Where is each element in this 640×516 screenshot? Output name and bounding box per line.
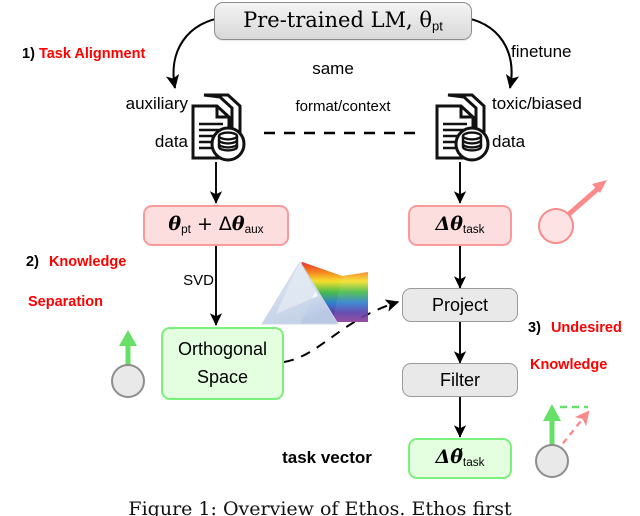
- label-auxiliary-data-line2: data: [78, 131, 188, 153]
- auxiliary-data-l2-text: data: [155, 132, 188, 152]
- aux-document-database-icon: [186, 90, 248, 164]
- auxiliary-data-l1-text: auxiliary: [126, 94, 188, 114]
- step-3-undesired-knowledge-line2: Knowledge: [530, 357, 607, 373]
- vector-orthogonal-arrowhead: [119, 330, 137, 346]
- step-2-knowledge-separation-line1: 2) Knowledge: [26, 254, 126, 270]
- node-orthogonal-space[interactable]: Orthogonal Space: [161, 327, 284, 400]
- label-auxiliary-data-line1: auxiliary: [78, 93, 188, 115]
- toxic-data-l1-text: toxic/biased: [492, 94, 582, 114]
- project-label: Project: [432, 295, 488, 316]
- node-theta-aux[interactable]: θpt + Δθaux: [143, 205, 289, 246]
- delta-task-sub: task: [463, 223, 485, 236]
- filter-label: Filter: [440, 370, 480, 391]
- step-1-task-alignment: 1) Task Alignment: [22, 46, 145, 62]
- step-3-number: 3): [528, 320, 541, 336]
- step-2-label-line1: Knowledge: [49, 254, 126, 270]
- step-1-label: Task Alignment: [39, 46, 145, 62]
- step-2-knowledge-separation-line2: Separation: [28, 294, 103, 310]
- orthogonal-space-line1: Orthogonal: [178, 339, 267, 360]
- task-vector-text: Δθ̃task: [436, 447, 485, 469]
- theta-aux-theta2: θ: [232, 213, 245, 235]
- label-same: same: [290, 58, 376, 80]
- vector-undesired-arrowhead: [592, 180, 607, 193]
- node-filter[interactable]: Filter: [402, 363, 518, 397]
- label-task-vector: task vector: [262, 447, 392, 469]
- label-toxic-data-line2: data: [492, 131, 638, 153]
- vector-result-green-arrowhead: [543, 404, 561, 421]
- label-toxic-data-line1: toxic/biased: [492, 93, 638, 115]
- label-finetune: finetune: [511, 41, 611, 63]
- pretrained-lm-label: Pre-trained LM, θ: [243, 8, 432, 32]
- orthogonal-space-line2: Space: [197, 367, 248, 388]
- theta-aux-sub2: aux: [245, 223, 264, 236]
- step-2-number: 2): [26, 254, 39, 270]
- vector-undesired-line: [561, 186, 601, 221]
- node-project[interactable]: Project: [402, 288, 518, 322]
- figure-caption-text: Figure 1: Overview of Ethos. Ethos first: [128, 498, 511, 516]
- prism-spectrum-icon: [256, 256, 368, 334]
- same-text: same: [312, 59, 354, 79]
- pretrained-lm-text: Pre-trained LM, θpt: [243, 8, 443, 34]
- figure-canvas: Pre-trained LM, θpt θpt + Δθaux Δθtask O…: [0, 0, 640, 516]
- label-format-context: format/context: [275, 97, 411, 117]
- toxic-data-l2-text: data: [492, 132, 525, 152]
- vector-result-red-dashed: [556, 416, 585, 452]
- task-vector-sub: task: [463, 456, 485, 469]
- finetune-text: finetune: [511, 42, 572, 62]
- task-vector-caption: task vector: [282, 448, 372, 468]
- svd-text: SVD: [183, 272, 214, 289]
- figure-caption: Figure 1: Overview of Ethos. Ethos first: [0, 498, 640, 516]
- step-3-label-line1: Undesired: [551, 320, 622, 336]
- theta-aux-theta1: θ: [168, 213, 181, 235]
- toxic-document-database-icon: [430, 90, 492, 164]
- step-3-undesired-knowledge-line1: 3) Undesired: [528, 320, 622, 336]
- node-delta-task[interactable]: Δθtask: [408, 205, 512, 246]
- theta-aux-text: θpt + Δθaux: [168, 214, 263, 236]
- step-3-label-line2: Knowledge: [530, 357, 607, 373]
- theta-aux-op: + Δ: [191, 213, 232, 235]
- vector-undesired-origin: [539, 209, 573, 243]
- pretrained-lm-sub: pt: [432, 18, 443, 33]
- format-context-text: format/context: [295, 98, 390, 115]
- node-pretrained-lm[interactable]: Pre-trained LM, θpt: [214, 2, 472, 40]
- theta-aux-sub1: pt: [181, 223, 191, 236]
- step-2-label-line2: Separation: [28, 294, 103, 310]
- delta-task-text: Δθtask: [436, 214, 485, 236]
- vector-orthogonal-origin: [112, 365, 144, 397]
- delta-task-label: Δθ: [436, 213, 463, 235]
- node-task-vector-output[interactable]: Δθ̃task: [408, 438, 512, 479]
- vector-result-origin: [536, 445, 568, 477]
- step-1-number: 1): [22, 46, 35, 62]
- label-svd: SVD: [166, 271, 214, 291]
- task-vector-label: Δθ̃: [436, 446, 463, 468]
